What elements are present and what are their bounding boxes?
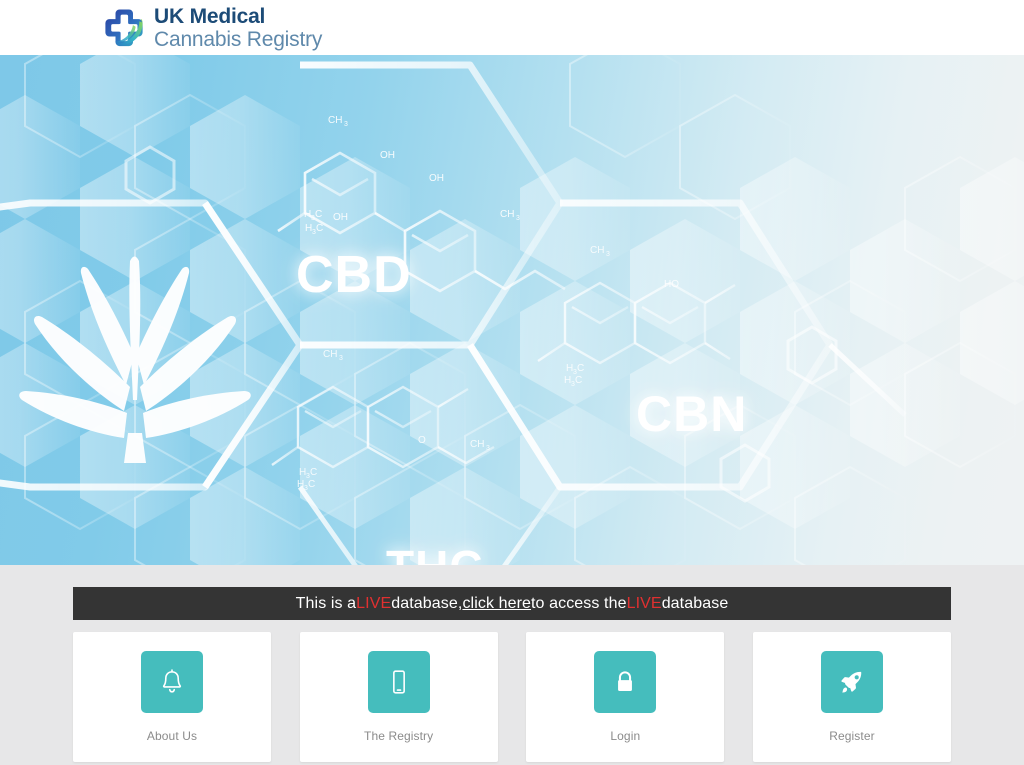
- svg-text:C: C: [315, 209, 322, 220]
- tile-register[interactable]: Register: [753, 632, 951, 762]
- brand-logo-link[interactable]: UK Medical Cannabis Registry: [102, 5, 322, 51]
- hero-banner: CH3 OH OH OH H3C H3C CH3 CH3 HO H3C H3C: [0, 55, 1024, 565]
- svg-text:CH: CH: [323, 349, 337, 360]
- medical-cross-leaf-logo-icon: [102, 5, 146, 51]
- svg-text:3: 3: [339, 355, 343, 362]
- svg-text:CH: CH: [500, 209, 514, 220]
- svg-text:C: C: [308, 479, 315, 490]
- lock-icon: [594, 651, 656, 713]
- rocket-icon: [821, 651, 883, 713]
- banner-click-here-link[interactable]: click here: [462, 595, 531, 613]
- tile-label: Register: [829, 729, 874, 743]
- svg-text:CH: CH: [590, 245, 604, 256]
- svg-text:3: 3: [344, 121, 348, 128]
- svg-text:HO: HO: [664, 279, 679, 290]
- banner-live-word-1: LIVE: [356, 595, 391, 613]
- banner-text-middle-2: to access the: [531, 595, 627, 613]
- svg-text:CH: CH: [470, 439, 484, 450]
- brand-line-2: Cannabis Registry: [154, 29, 322, 50]
- banner-text-prefix: This is a: [296, 595, 356, 613]
- svg-text:3: 3: [516, 215, 520, 222]
- lower-section: This is a LIVE database, click here to a…: [0, 565, 1024, 765]
- site-header: UK Medical Cannabis Registry: [0, 0, 1024, 55]
- live-database-banner: This is a LIVE database, click here to a…: [73, 587, 951, 620]
- brand-wordmark: UK Medical Cannabis Registry: [154, 6, 322, 50]
- tile-label: The Registry: [364, 729, 433, 743]
- tile-the-registry[interactable]: The Registry: [300, 632, 498, 762]
- tile-label: Login: [610, 729, 640, 743]
- svg-text:3: 3: [606, 251, 610, 258]
- hero-label-cbd: CBD: [296, 245, 412, 305]
- svg-text:O: O: [418, 435, 426, 446]
- hero-graphic: CH3 OH OH OH H3C H3C CH3 CH3 HO H3C H3C: [0, 55, 1024, 565]
- banner-text-middle-1: database,: [391, 595, 462, 613]
- tile-label: About Us: [147, 729, 197, 743]
- tile-about-us[interactable]: About Us: [73, 632, 271, 762]
- tablet-icon: [368, 651, 430, 713]
- tile-login[interactable]: Login: [526, 632, 724, 762]
- svg-text:OH: OH: [333, 212, 348, 223]
- svg-text:CH: CH: [328, 115, 342, 126]
- hero-label-cbn: CBN: [636, 385, 747, 443]
- brand-line-1: UK Medical: [154, 6, 322, 27]
- svg-text:OH: OH: [429, 173, 444, 184]
- svg-text:C: C: [577, 363, 584, 374]
- banner-live-word-2: LIVE: [627, 595, 662, 613]
- quick-link-tiles: About Us The Registry Login: [73, 632, 951, 762]
- svg-text:C: C: [310, 467, 317, 478]
- svg-text:OH: OH: [380, 150, 395, 161]
- svg-text:3: 3: [486, 445, 490, 452]
- svg-text:C: C: [575, 375, 582, 386]
- hero-label-thc: THC: [386, 540, 484, 565]
- banner-text-suffix: database: [662, 595, 729, 613]
- bell-icon: [141, 651, 203, 713]
- svg-text:C: C: [316, 223, 323, 234]
